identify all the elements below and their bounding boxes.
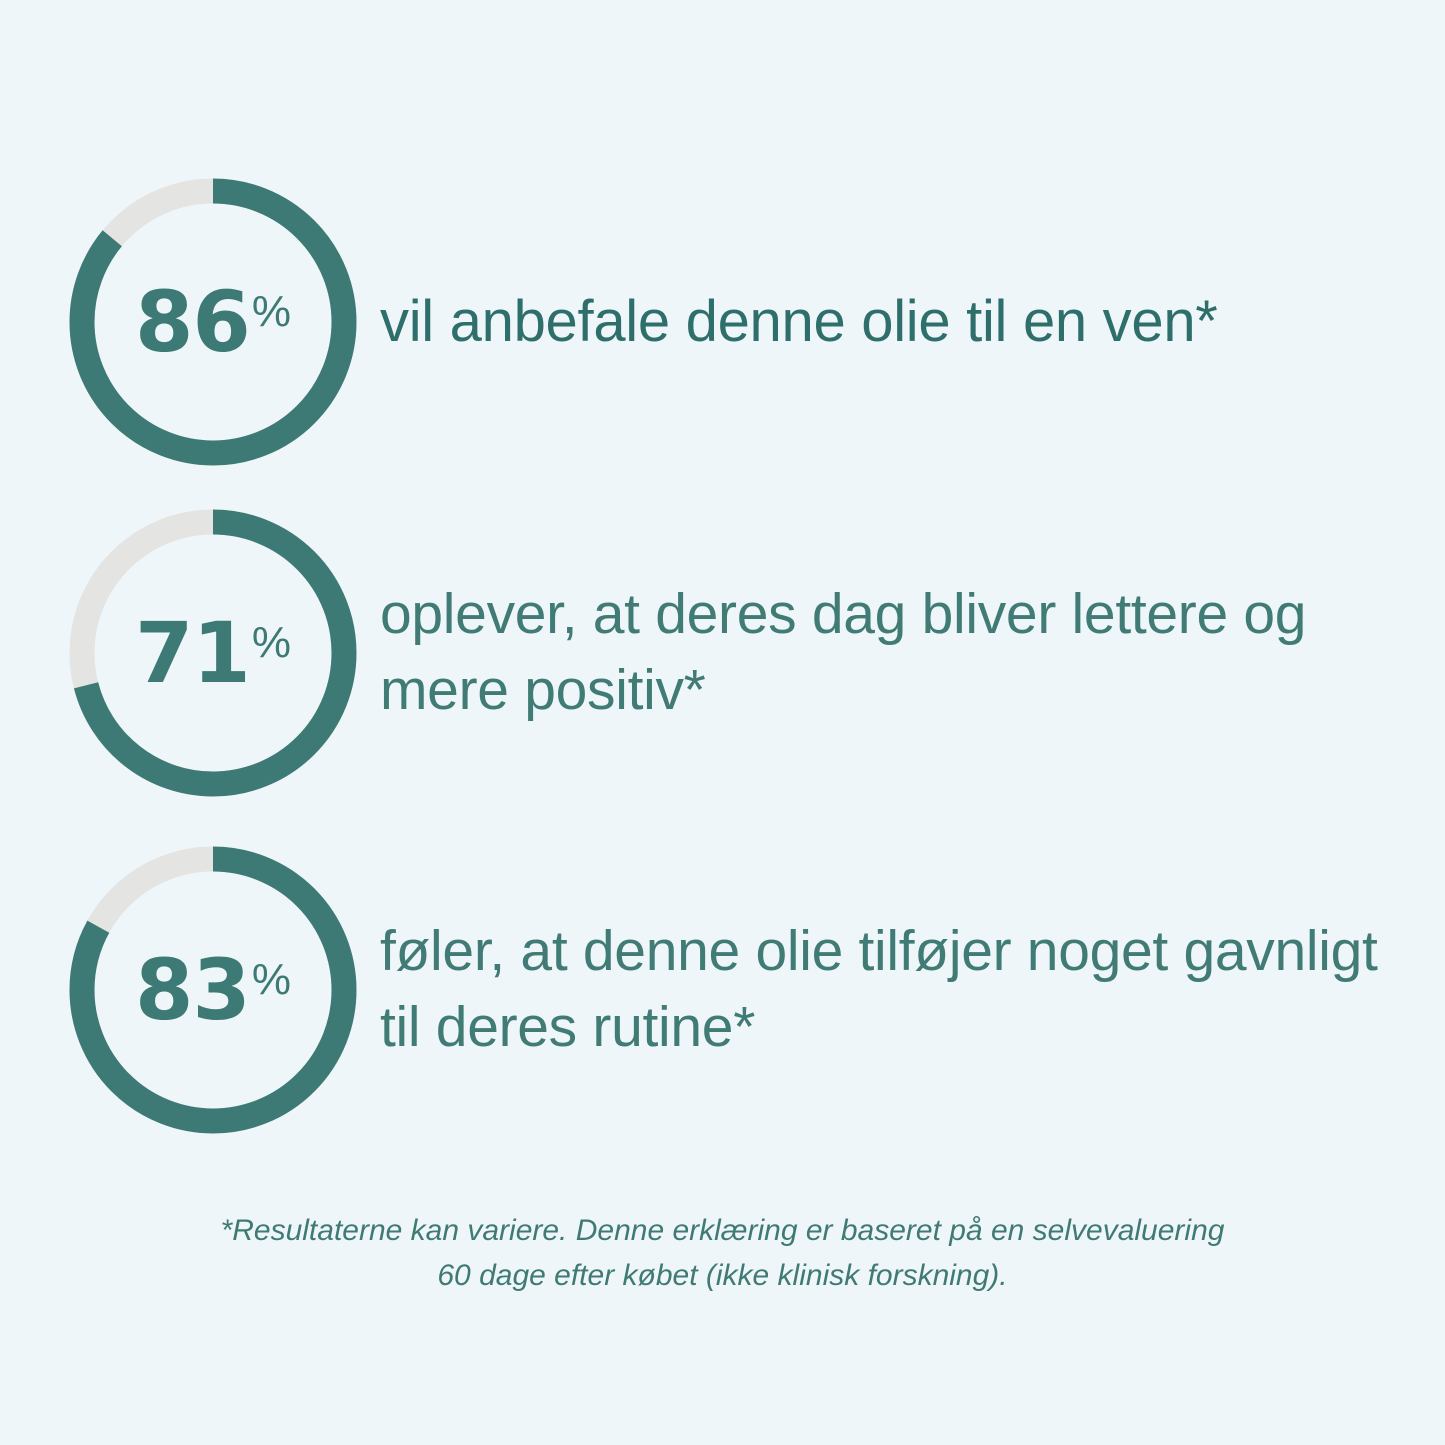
- donut-chart-83: 83 %: [68, 845, 358, 1135]
- donut-center-label: 71 %: [68, 508, 358, 798]
- donut-chart-71: 71 %: [68, 508, 358, 798]
- donut-center-label: 86 %: [68, 177, 358, 467]
- donut-value-text: 83: [135, 948, 250, 1032]
- percent-sign: %: [252, 958, 291, 1002]
- stat-row: 83 % føler, at denne olie tilføjer noget…: [0, 845, 1445, 1135]
- donut-value-text: 86: [135, 280, 250, 364]
- stat-description: føler, at denne olie tilføjer noget gavn…: [358, 914, 1445, 1066]
- footnote-disclaimer: *Resultaterne kan variere. Denne erklæri…: [0, 1208, 1445, 1298]
- percent-sign: %: [252, 290, 291, 334]
- donut-chart-86: 86 %: [68, 177, 358, 467]
- stat-description: vil anbefale denne olie til en ven*: [358, 283, 1445, 360]
- donut-center-label: 83 %: [68, 845, 358, 1135]
- stat-description: oplever, at deres dag bliver lettere og …: [358, 577, 1445, 729]
- percent-sign: %: [252, 621, 291, 665]
- stat-row: 71 % oplever, at deres dag bliver letter…: [0, 508, 1445, 798]
- stat-row: 86 % vil anbefale denne olie til en ven*: [0, 177, 1445, 467]
- stats-infographic: 86 % vil anbefale denne olie til en ven*…: [0, 0, 1445, 1445]
- donut-value-text: 71: [135, 611, 250, 695]
